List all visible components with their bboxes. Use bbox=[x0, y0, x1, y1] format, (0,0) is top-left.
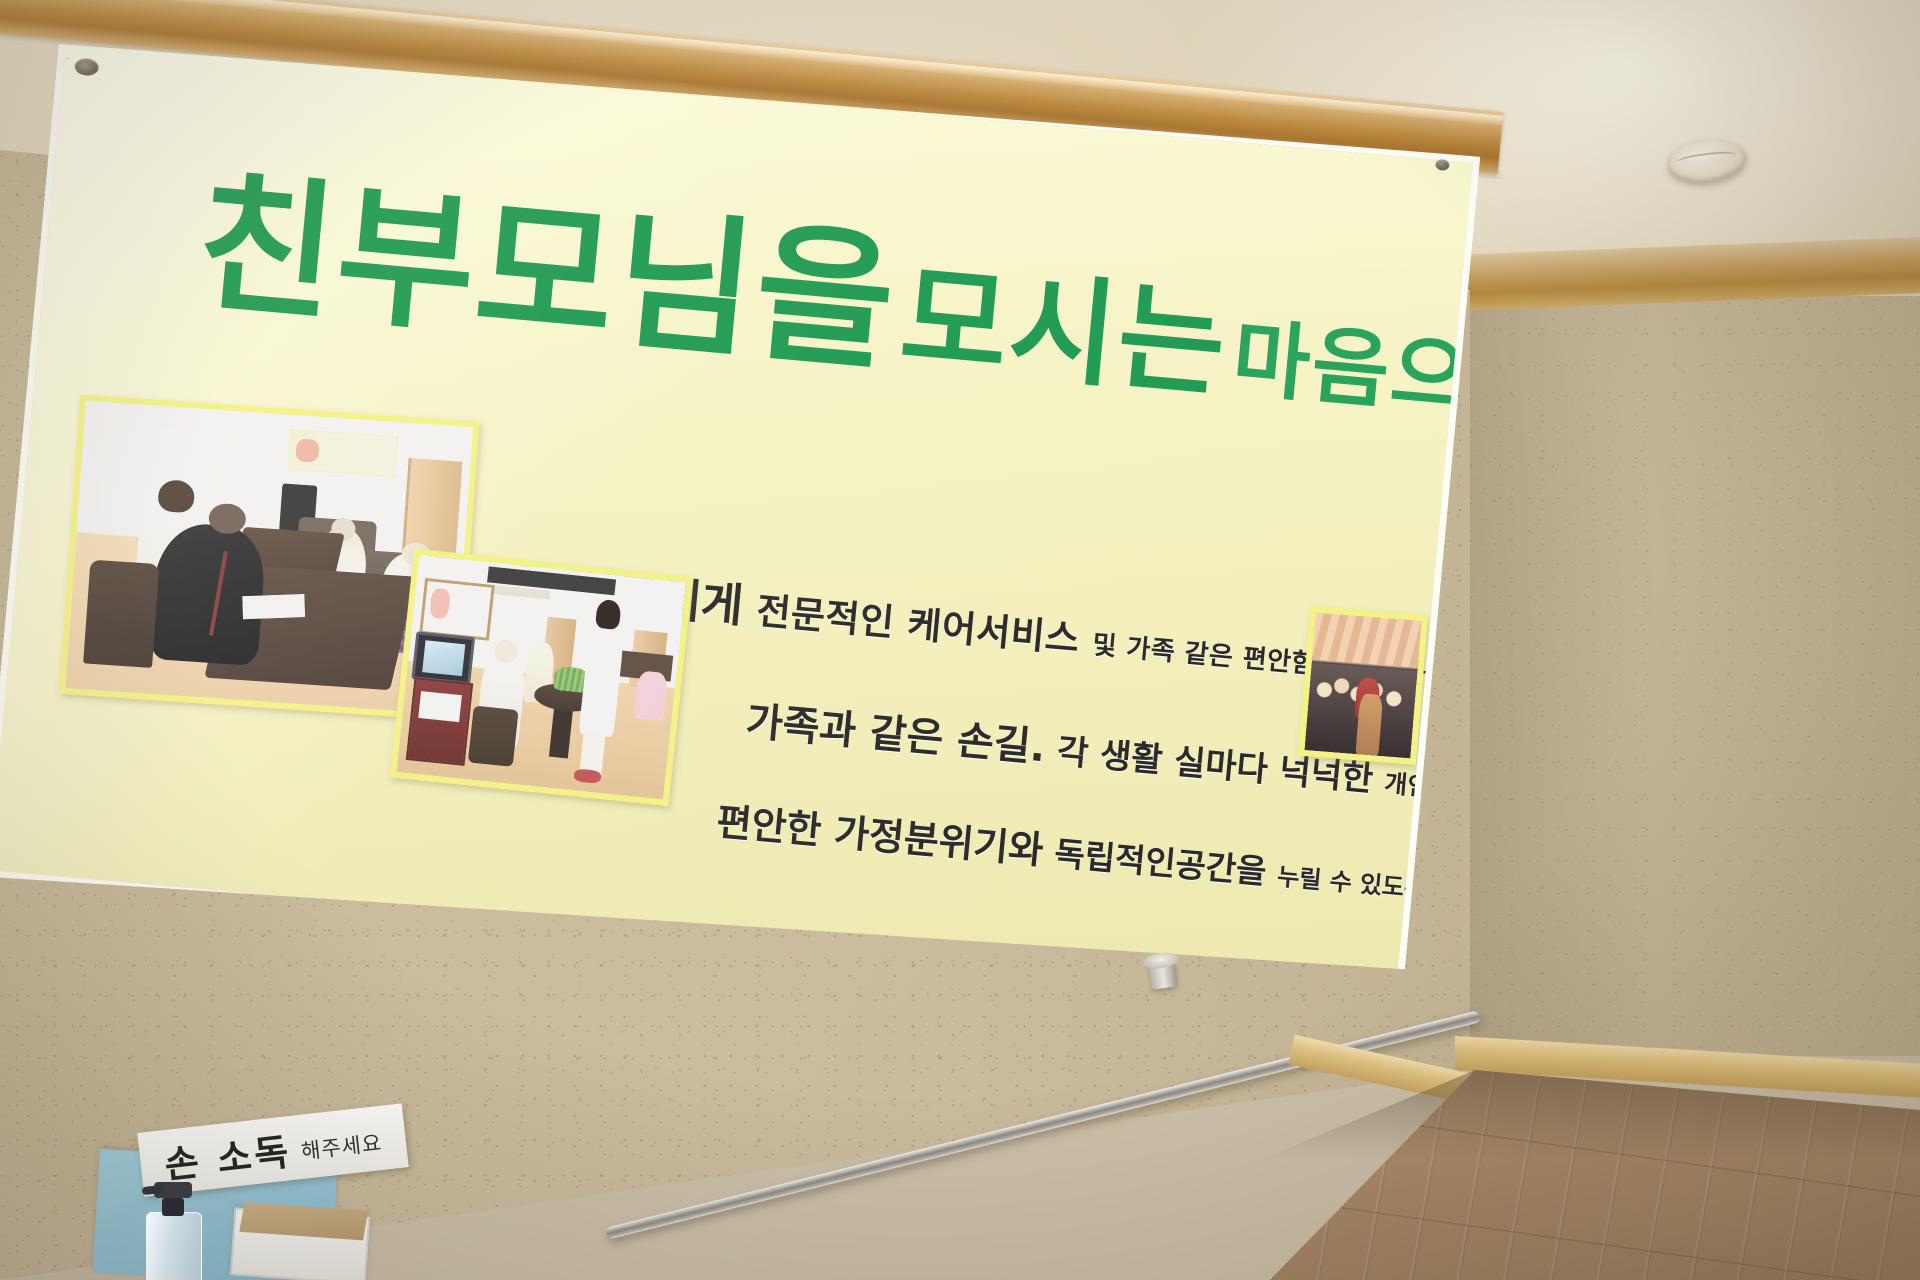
body-line-3-lead: 편안한 가정분위기와 bbox=[715, 800, 1046, 873]
hand-sanitizer-bottle[interactable] bbox=[140, 1160, 206, 1280]
body-line-3-mid: 독립적인공간을 bbox=[1053, 834, 1268, 892]
headline-part-2: 모시는 bbox=[895, 250, 1232, 413]
photo2-wall-frames bbox=[419, 578, 494, 642]
body-line-2-lead: 가족과 같은 손길. bbox=[744, 699, 1048, 772]
photo1-wall-poster bbox=[287, 429, 398, 477]
photo2-red-cabinet bbox=[406, 677, 473, 765]
photo2-chair bbox=[468, 705, 519, 766]
sanitizer-sign-subtitle: 해주세요 bbox=[299, 1127, 383, 1166]
headline-part-3: 마음으로 bbox=[1229, 309, 1481, 435]
banner-photo-activity-room bbox=[390, 549, 693, 806]
glove-dispenser-box[interactable] bbox=[230, 1207, 370, 1280]
corridor-scene: 친부모님을 모시는 마음으로 정성을 다합니다 어르신들에게 전문적인 케어서비… bbox=[0, 0, 1920, 1280]
banner-photo-event bbox=[1298, 606, 1428, 765]
photo1-shirt-stripe bbox=[209, 551, 228, 636]
body-line-1-mid: 전문적인 케어서비스 bbox=[755, 589, 1082, 661]
back-wall-shading bbox=[1455, 296, 1655, 1056]
wall-banner: 친부모님을 모시는 마음으로 정성을 다합니다 어르신들에게 전문적인 케어서비… bbox=[0, 30, 1480, 1003]
photo3-drape bbox=[1312, 612, 1422, 667]
photo1-chair bbox=[83, 560, 160, 668]
sanitizer-bottle-body bbox=[146, 1212, 202, 1280]
handrail-bracket bbox=[1148, 956, 1178, 989]
banner-surface: 친부모님을 모시는 마음으로 정성을 다합니다 어르신들에게 전문적인 케어서비… bbox=[0, 30, 1480, 1003]
banner-headline: 친부모님을 모시는 마음으로 정성을 다합니다 bbox=[191, 168, 1480, 433]
photo1-paper bbox=[242, 594, 305, 619]
photo2-seated-person bbox=[634, 670, 668, 721]
headline-part-1: 친부모님을 bbox=[190, 156, 903, 391]
sanitizer-bottle-neck bbox=[162, 1198, 184, 1216]
body-line-3: 편안한 가정분위기와 독립적인공간을 누릴 수 있도록 하였습니다. bbox=[714, 791, 1406, 907]
